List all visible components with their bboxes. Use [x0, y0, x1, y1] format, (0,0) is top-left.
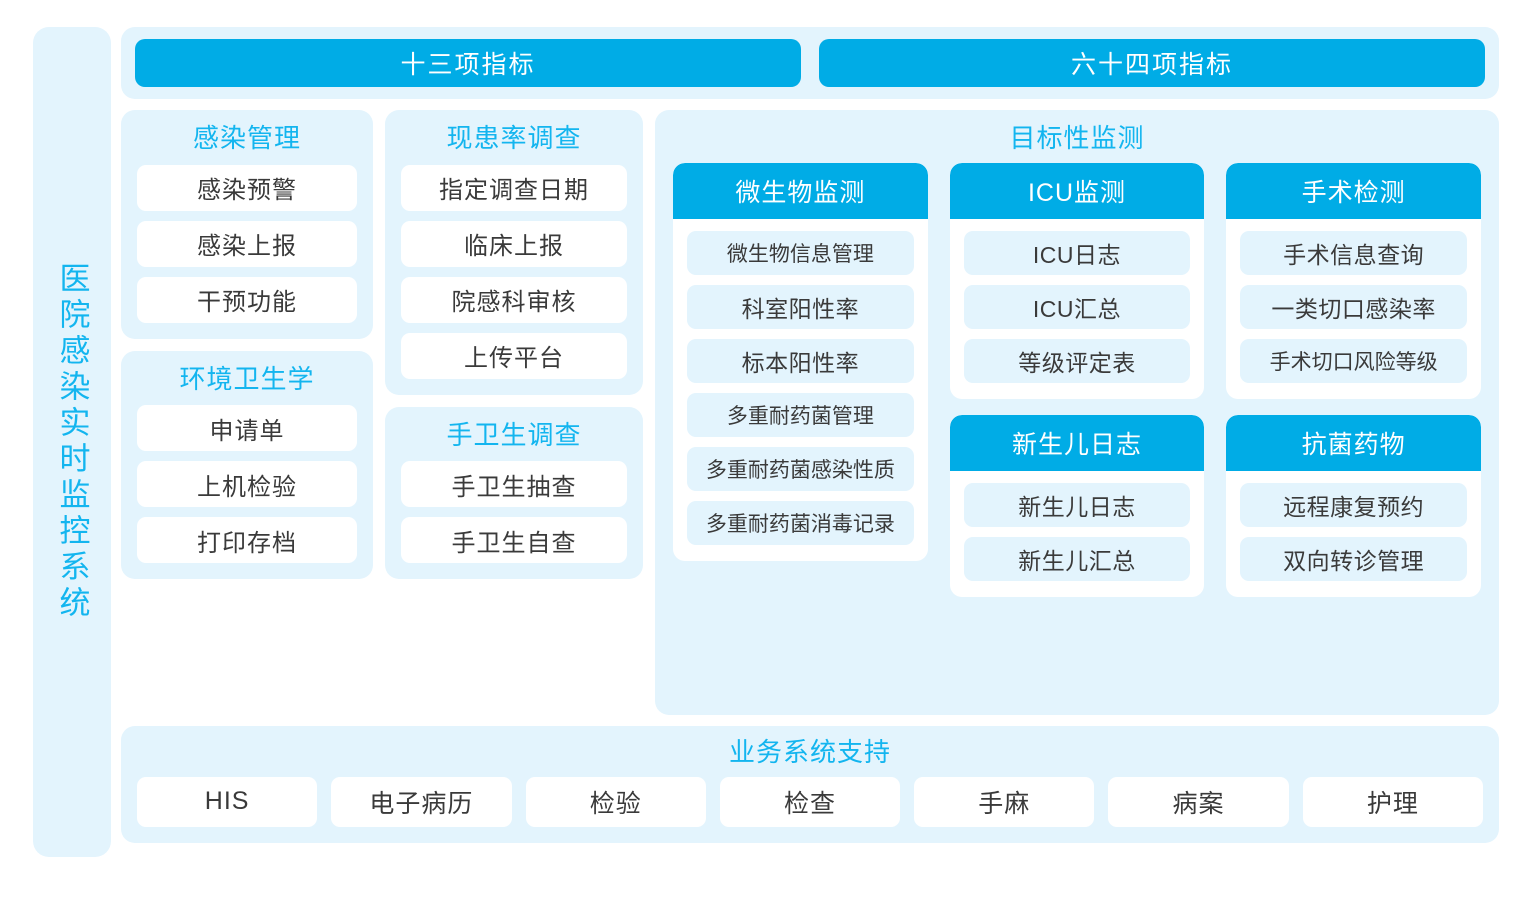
card-body: ICU日志 ICU汇总 等级评定表 — [950, 219, 1205, 399]
panel-target-monitoring: 目标性监测 ICU监测 ICU日志 ICU汇总 等级评定表 手术检测 — [655, 110, 1499, 715]
group-title: 感染管理 — [137, 124, 357, 153]
card-surgery-monitoring: 手术检测 手术信息查询 一类切口感染率 手术切口风险等级 — [1226, 163, 1481, 399]
card-header[interactable]: ICU监测 — [950, 163, 1205, 219]
card-header[interactable]: 抗菌药物 — [1226, 415, 1481, 471]
column-prevalence-handhygiene: 现患率调查 指定调查日期 临床上报 院感科审核 上传平台 手卫生调查 手卫生抽查… — [385, 110, 643, 715]
middle-region: 感染管理 感染预警 感染上报 干预功能 环境卫生学 申请单 上机检验 打印存档 — [121, 110, 1499, 715]
card-microbiology-monitoring: 微生物监测 微生物信息管理 科室阳性率 标本阳性率 多重耐药菌管理 多重耐药菌感… — [673, 163, 928, 561]
list-item[interactable]: 手卫生抽查 — [401, 461, 627, 507]
panel-title: 目标性监测 — [673, 124, 1481, 153]
list-item[interactable]: 科室阳性率 — [687, 285, 914, 329]
card-antibacterial-drugs: 抗菌药物 远程康复预约 双向转诊管理 — [1226, 415, 1481, 597]
list-item[interactable]: 上传平台 — [401, 333, 627, 379]
list-item[interactable]: 手术切口风险等级 — [1240, 339, 1467, 383]
list-item[interactable]: 感染预警 — [137, 165, 357, 211]
indicator-button-64[interactable]: 六十四项指标 — [819, 39, 1485, 87]
list-item[interactable]: 双向转诊管理 — [1240, 537, 1467, 581]
list-item[interactable]: 临床上报 — [401, 221, 627, 267]
card-header[interactable]: 新生儿日志 — [950, 415, 1205, 471]
card-body: 微生物信息管理 科室阳性率 标本阳性率 多重耐药菌管理 多重耐药菌感染性质 多重… — [673, 219, 928, 561]
support-item-list: HIS 电子病历 检验 检查 手麻 病案 护理 — [137, 777, 1483, 827]
card-icu-monitoring: ICU监测 ICU日志 ICU汇总 等级评定表 — [950, 163, 1205, 399]
target-card-grid: ICU监测 ICU日志 ICU汇总 等级评定表 手术检测 手术信息查询 — [673, 163, 1481, 699]
list-item[interactable]: 检验 — [526, 777, 706, 827]
list-item[interactable]: 远程康复预约 — [1240, 483, 1467, 527]
column-infection-environment: 感染管理 感染预警 感染上报 干预功能 环境卫生学 申请单 上机检验 打印存档 — [121, 110, 373, 715]
list-item[interactable]: 一类切口感染率 — [1240, 285, 1467, 329]
list-item[interactable]: 电子病历 — [331, 777, 511, 827]
group-item-list: 手卫生抽查 手卫生自查 — [401, 461, 627, 563]
system-title-sidebar: 医院感染实时监控系统 — [33, 27, 111, 857]
card-body: 远程康复预约 双向转诊管理 — [1226, 471, 1481, 597]
group-hand-hygiene-survey: 手卫生调查 手卫生抽查 手卫生自查 — [385, 407, 643, 580]
group-item-list: 指定调查日期 临床上报 院感科审核 上传平台 — [401, 165, 627, 379]
list-item[interactable]: 多重耐药菌消毒记录 — [687, 501, 914, 545]
list-item[interactable]: 申请单 — [137, 405, 357, 451]
list-item[interactable]: 感染上报 — [137, 221, 357, 267]
list-item[interactable]: ICU日志 — [964, 231, 1191, 275]
list-item[interactable]: 护理 — [1303, 777, 1483, 827]
card-body: 新生儿日志 新生儿汇总 — [950, 471, 1205, 597]
group-infection-management: 感染管理 感染预警 感染上报 干预功能 — [121, 110, 373, 339]
indicator-button-13[interactable]: 十三项指标 — [135, 39, 801, 87]
list-item[interactable]: 病案 — [1108, 777, 1288, 827]
group-title: 手卫生调查 — [401, 421, 627, 450]
panel-title: 业务系统支持 — [137, 738, 1483, 767]
list-item[interactable]: 手术信息查询 — [1240, 231, 1467, 275]
list-item[interactable]: 标本阳性率 — [687, 339, 914, 383]
list-item[interactable]: 手麻 — [914, 777, 1094, 827]
group-item-list: 申请单 上机检验 打印存档 — [137, 405, 357, 563]
list-item[interactable]: 打印存档 — [137, 517, 357, 563]
list-item[interactable]: 手卫生自查 — [401, 517, 627, 563]
indicator-topbar: 十三项指标 六十四项指标 — [121, 27, 1499, 99]
list-item[interactable]: 上机检验 — [137, 461, 357, 507]
list-item[interactable]: 多重耐药菌管理 — [687, 393, 914, 437]
list-item[interactable]: 新生儿汇总 — [964, 537, 1191, 581]
list-item[interactable]: HIS — [137, 777, 317, 827]
card-newborn-log: 新生儿日志 新生儿日志 新生儿汇总 — [950, 415, 1205, 597]
system-architecture-diagram: 医院感染实时监控系统 十三项指标 六十四项指标 感染管理 感染预警 感染上报 — [33, 27, 1499, 857]
list-item[interactable]: ICU汇总 — [964, 285, 1191, 329]
card-header[interactable]: 微生物监测 — [673, 163, 928, 219]
group-item-list: 感染预警 感染上报 干预功能 — [137, 165, 357, 323]
list-item[interactable]: 指定调查日期 — [401, 165, 627, 211]
group-environmental-hygiene: 环境卫生学 申请单 上机检验 打印存档 — [121, 351, 373, 580]
main-content: 十三项指标 六十四项指标 感染管理 感染预警 感染上报 干预功能 — [121, 27, 1499, 857]
list-item[interactable]: 检查 — [720, 777, 900, 827]
list-item[interactable]: 多重耐药菌感染性质 — [687, 447, 914, 491]
list-item[interactable]: 新生儿日志 — [964, 483, 1191, 527]
list-item[interactable]: 等级评定表 — [964, 339, 1191, 383]
list-item[interactable]: 干预功能 — [137, 277, 357, 323]
diagram-root: 医院感染实时监控系统 十三项指标 六十四项指标 感染管理 感染预警 感染上报 — [0, 0, 1533, 902]
list-item[interactable]: 院感科审核 — [401, 277, 627, 323]
group-title: 现患率调查 — [401, 124, 627, 153]
card-header[interactable]: 手术检测 — [1226, 163, 1481, 219]
card-body: 手术信息查询 一类切口感染率 手术切口风险等级 — [1226, 219, 1481, 399]
panel-business-system-support: 业务系统支持 HIS 电子病历 检验 检查 手麻 病案 护理 — [121, 726, 1499, 843]
group-title: 环境卫生学 — [137, 365, 357, 394]
group-prevalence-survey: 现患率调查 指定调查日期 临床上报 院感科审核 上传平台 — [385, 110, 643, 395]
system-title-vertical: 医院感染实时监控系统 — [57, 262, 88, 622]
list-item[interactable]: 微生物信息管理 — [687, 231, 914, 275]
